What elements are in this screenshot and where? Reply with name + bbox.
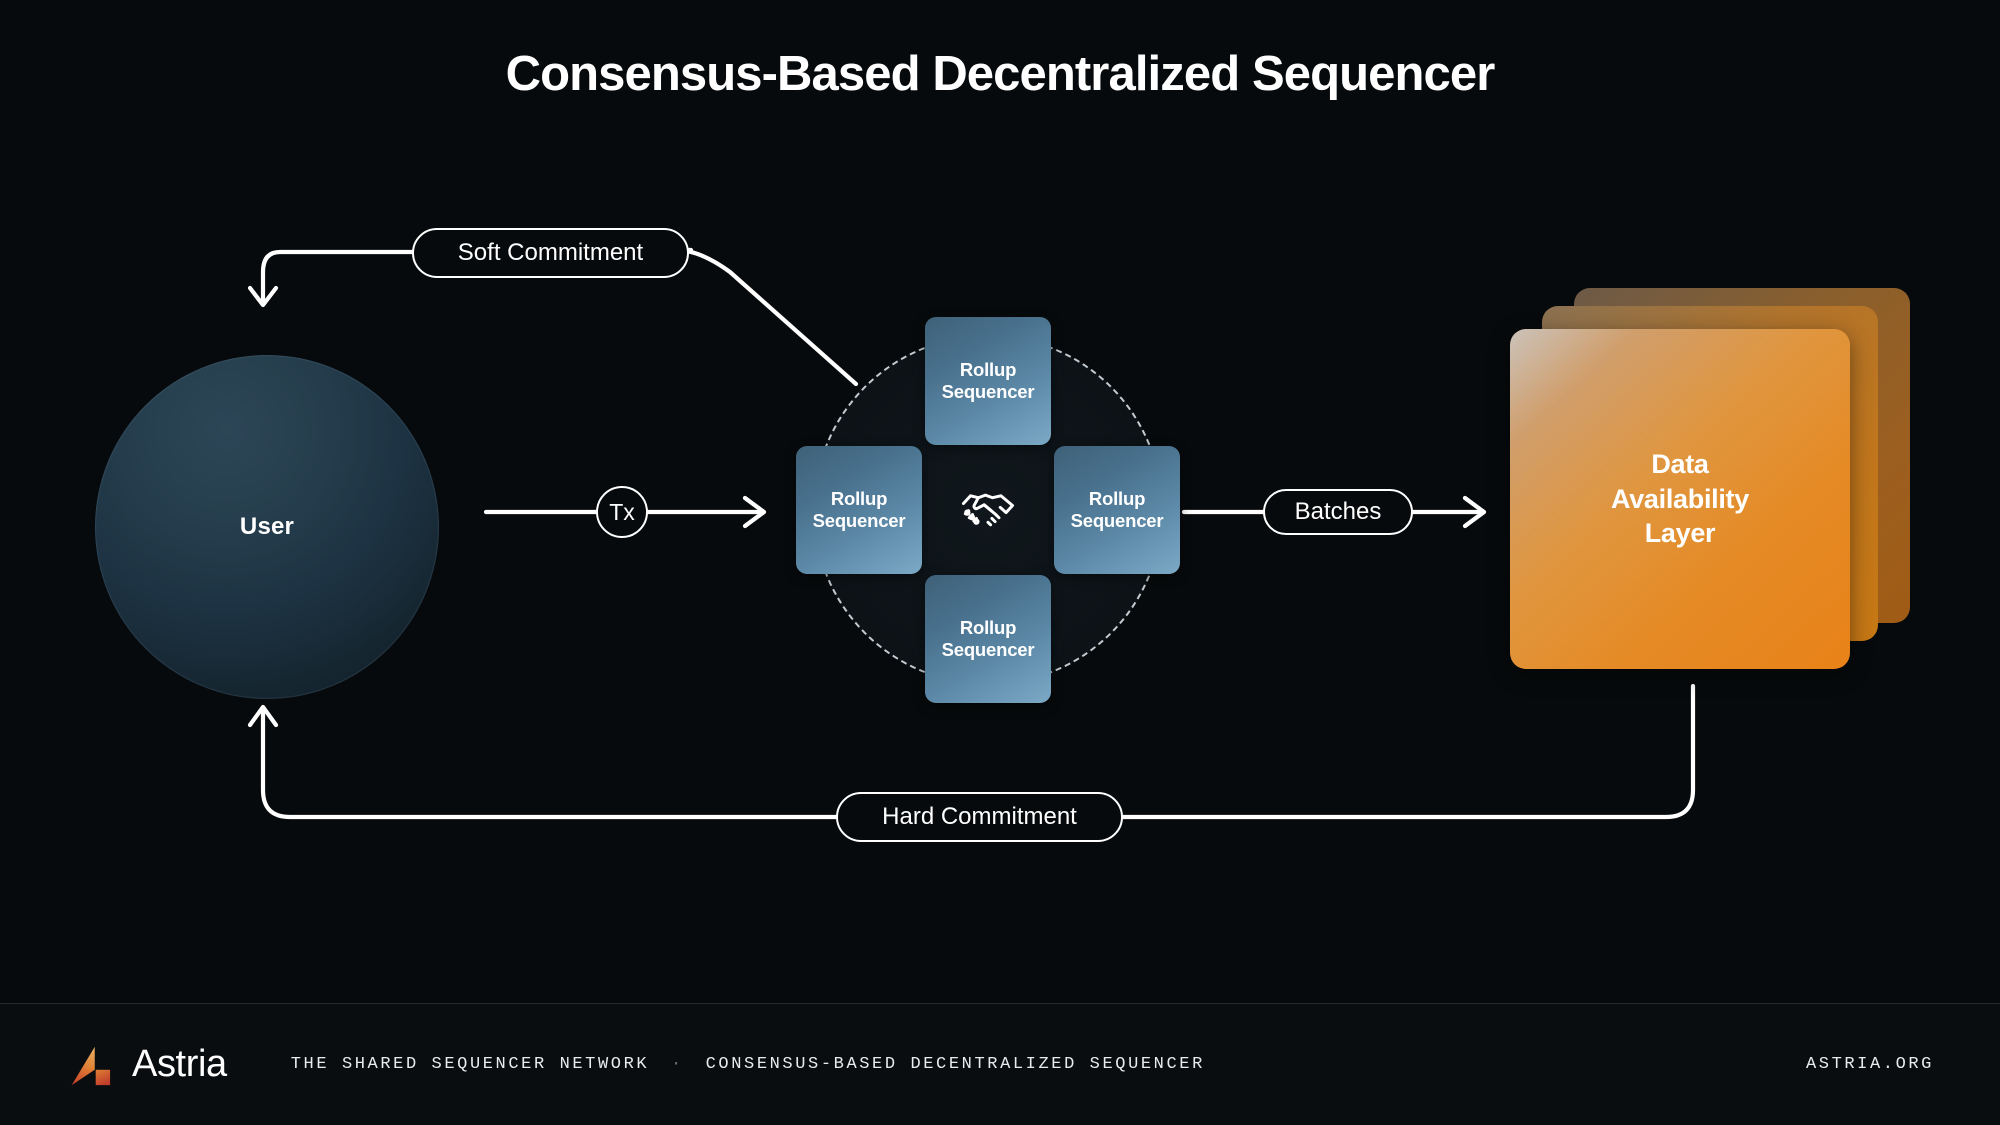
footer-tagline-secondary: CONSENSUS-BASED DECENTRALIZED SEQUENCER [706, 1055, 1205, 1074]
rollup-sequencer-label-line2: Sequencer [813, 510, 906, 532]
rollup-sequencer-label-line1: Rollup [1089, 488, 1145, 510]
footer-tagline: THE SHARED SEQUENCER NETWORK · CONSENSUS… [291, 1055, 1205, 1074]
batches-label[interactable]: Batches [1263, 489, 1413, 535]
diagram-canvas: Consensus-Based Decentralized Sequencer [0, 0, 2000, 1125]
rollup-sequencer-node-top[interactable]: Rollup Sequencer [925, 317, 1051, 445]
hard-commitment-label[interactable]: Hard Commitment [836, 792, 1123, 842]
rollup-sequencer-node-left[interactable]: Rollup Sequencer [796, 446, 922, 574]
sequencer-cluster: Rollup Sequencer Rollup Sequencer Rollup… [778, 300, 1198, 720]
rollup-sequencer-node-bottom[interactable]: Rollup Sequencer [925, 575, 1051, 703]
footer-tagline-separator: · [662, 1055, 693, 1074]
data-availability-layer[interactable]: Data Availability Layer [1510, 288, 1910, 683]
footer-bar: Astria THE SHARED SEQUENCER NETWORK · CO… [0, 1004, 2000, 1125]
da-layer-label-line3: Layer [1611, 516, 1749, 551]
rollup-sequencer-label-line2: Sequencer [942, 381, 1035, 403]
user-node[interactable]: User [95, 355, 439, 699]
rollup-sequencer-label-line2: Sequencer [942, 639, 1035, 661]
rollup-sequencer-label-line2: Sequencer [1071, 510, 1164, 532]
page-title: Consensus-Based Decentralized Sequencer [0, 48, 2000, 102]
soft-commitment-arrowhead [250, 288, 276, 305]
user-node-label: User [240, 513, 294, 541]
rollup-sequencer-label-line1: Rollup [960, 359, 1016, 381]
tx-flow-arrowhead [745, 498, 764, 526]
astria-logo-icon [66, 1042, 112, 1088]
rollup-sequencer-label-line1: Rollup [960, 617, 1016, 639]
da-layer-card-front[interactable]: Data Availability Layer [1510, 329, 1850, 669]
soft-commitment-label[interactable]: Soft Commitment [412, 228, 689, 278]
rollup-sequencer-node-right[interactable]: Rollup Sequencer [1054, 446, 1180, 574]
footer-tagline-primary: THE SHARED SEQUENCER NETWORK [291, 1055, 649, 1074]
handshake-icon [957, 479, 1019, 541]
astria-brand-name: Astria [132, 1043, 227, 1086]
transaction-badge[interactable]: Tx [596, 486, 648, 538]
rollup-sequencer-label-line1: Rollup [831, 488, 887, 510]
da-layer-label-line1: Data [1611, 447, 1749, 482]
hard-commitment-arrowhead [250, 707, 276, 725]
da-layer-label-line2: Availability [1611, 482, 1749, 517]
batches-flow-arrowhead [1465, 498, 1484, 526]
footer-url[interactable]: ASTRIA.ORG [1806, 1055, 1934, 1074]
